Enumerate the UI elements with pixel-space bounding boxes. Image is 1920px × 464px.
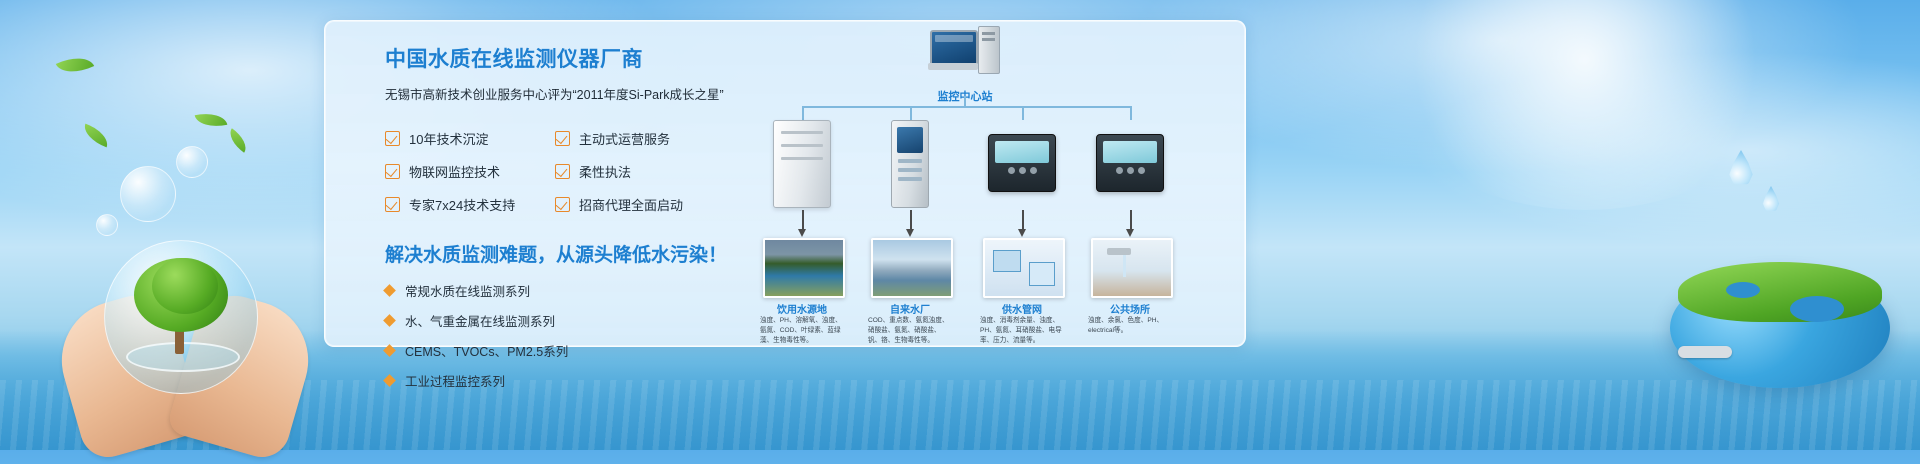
computer-screen: [930, 30, 978, 66]
analyzer-rack-icon: [891, 120, 929, 208]
feature-label: 柔性执法: [579, 162, 631, 181]
diagram-bus-line: [802, 106, 1132, 108]
check-icon: [385, 131, 400, 146]
feature-item[interactable]: 专家7x24技术支持: [385, 195, 555, 214]
page-subtitle: 无锡市高新技术创业服务中心评为“2011年度Si-Park成长之星”: [385, 84, 745, 103]
bubble-icon: [176, 146, 208, 178]
check-icon: [385, 164, 400, 179]
computer-stand: [928, 63, 978, 70]
list-item[interactable]: 水、气重金属在线监测系列: [385, 311, 745, 330]
page-title: 中国水质在线监测仪器厂商: [385, 43, 745, 73]
feature-item[interactable]: 招商代理全面启动: [555, 195, 725, 214]
diagram-connector: [1022, 106, 1024, 120]
bubble-icon: [96, 214, 118, 236]
banner-text-column: 中国水质在线监测仪器厂商 无锡市高新技术创业服务中心评为“2011年度Si-Pa…: [385, 43, 745, 401]
leaf-icon: [224, 128, 251, 152]
flow-arrow-icon: [1022, 210, 1024, 230]
feature-item[interactable]: 10年技术沉淀: [385, 129, 555, 148]
check-icon: [555, 164, 570, 179]
node-description: 浊度、PH、溶解氧、浊度、氨氮、COD、叶绿素、蓝绿藻、生物毒性等。: [760, 316, 844, 347]
feature-label: 主动式运营服务: [579, 129, 670, 148]
faucet-icon: [1678, 346, 1732, 358]
tree-crown-highlight: [152, 258, 218, 314]
analyzer-cabinet-icon: [773, 120, 831, 208]
node-caption: 自来水厂: [855, 301, 965, 316]
bubble-icon: [120, 166, 176, 222]
diamond-bullet-icon: [383, 284, 396, 297]
water-drop-icon: [1728, 150, 1754, 186]
node-description: 浊度、消毒剂余量、浊度、PH、氨氮、耳硝酸盐、电导率、压力、流量等。: [980, 316, 1064, 347]
product-line-label: CEMS、TVOCs、PM2.5系列: [405, 341, 568, 360]
flow-arrow-icon: [1130, 210, 1132, 230]
check-icon: [385, 197, 400, 212]
product-line-label: 工业过程监控系列: [405, 371, 505, 390]
product-line-label: 水、气重金属在线监测系列: [405, 311, 555, 330]
product-line-label: 常规水质在线监测系列: [405, 281, 530, 300]
earth-lake-2: [1726, 282, 1760, 298]
diamond-bullet-icon: [383, 374, 396, 387]
list-item[interactable]: CEMS、TVOCs、PM2.5系列: [385, 341, 745, 360]
feature-label: 专家7x24技术支持: [409, 195, 515, 214]
node-caption: 公共场所: [1075, 301, 1185, 316]
node-description: 浊度、余氯、色度、PH、electrical等。: [1088, 316, 1172, 336]
diagram-connector: [910, 106, 912, 120]
water-drop-icon: [1762, 186, 1780, 212]
flow-arrow-icon: [802, 210, 804, 230]
check-icon: [555, 197, 570, 212]
diagram-connector: [1130, 106, 1132, 120]
leaf-icon: [80, 124, 111, 148]
product-line-list: 常规水质在线监测系列 水、气重金属在线监测系列 CEMS、TVOCs、PM2.5…: [385, 281, 745, 390]
leaf-icon: [195, 109, 228, 131]
flow-arrow-icon: [910, 210, 912, 230]
diagram-connector: [802, 106, 804, 120]
feature-label: 招商代理全面启动: [579, 195, 683, 214]
monitoring-topology-diagram: 监控中心站 饮用水源地 自来水厂 供水管网 公共场所 浊度、PH、溶解氧: [740, 10, 1220, 320]
feature-item[interactable]: 物联网监控技术: [385, 162, 555, 181]
feature-item[interactable]: 柔性执法: [555, 162, 725, 181]
node-caption: 饮用水源地: [747, 301, 857, 316]
diamond-bullet-icon: [383, 344, 396, 357]
hands-holding-tree-illustration: [60, 240, 310, 450]
monitoring-computer-icon: [930, 30, 1002, 78]
earth-grass: [1678, 262, 1882, 322]
computer-tower: [978, 26, 1000, 74]
device-water-plant: [874, 120, 946, 212]
feature-item[interactable]: 主动式运营服务: [555, 129, 725, 148]
photo-water-source: [763, 238, 845, 298]
check-icon: [555, 131, 570, 146]
device-pipe-network: [986, 120, 1058, 212]
earth-island-illustration: [1670, 268, 1890, 388]
list-item[interactable]: 工业过程监控系列: [385, 371, 745, 390]
leaf-icon: [56, 50, 94, 81]
section-title: 解决水质监测难题，从源头降低水污染！: [385, 240, 745, 267]
node-description: COD、重点数、氨氮浊度、硝酸盐、氨氮、硝酸盐、钒、铬、生物毒性等。: [868, 316, 952, 347]
node-caption: 供水管网: [967, 301, 1077, 316]
diamond-bullet-icon: [383, 314, 396, 327]
photo-public-place: [1091, 238, 1173, 298]
photo-pipe-network: [983, 238, 1065, 298]
earth-lake: [1790, 296, 1844, 322]
device-water-source: [766, 120, 838, 212]
photo-water-plant: [871, 238, 953, 298]
feature-label: 物联网监控技术: [409, 162, 500, 181]
device-public-place: [1094, 120, 1166, 212]
feature-checklist: 10年技术沉淀 主动式运营服务 物联网监控技术 柔性执法 专家7x24技术支持 …: [385, 129, 745, 214]
controller-icon: [988, 134, 1056, 192]
controller-icon: [1096, 134, 1164, 192]
list-item[interactable]: 常规水质在线监测系列: [385, 281, 745, 300]
feature-label: 10年技术沉淀: [409, 129, 488, 148]
